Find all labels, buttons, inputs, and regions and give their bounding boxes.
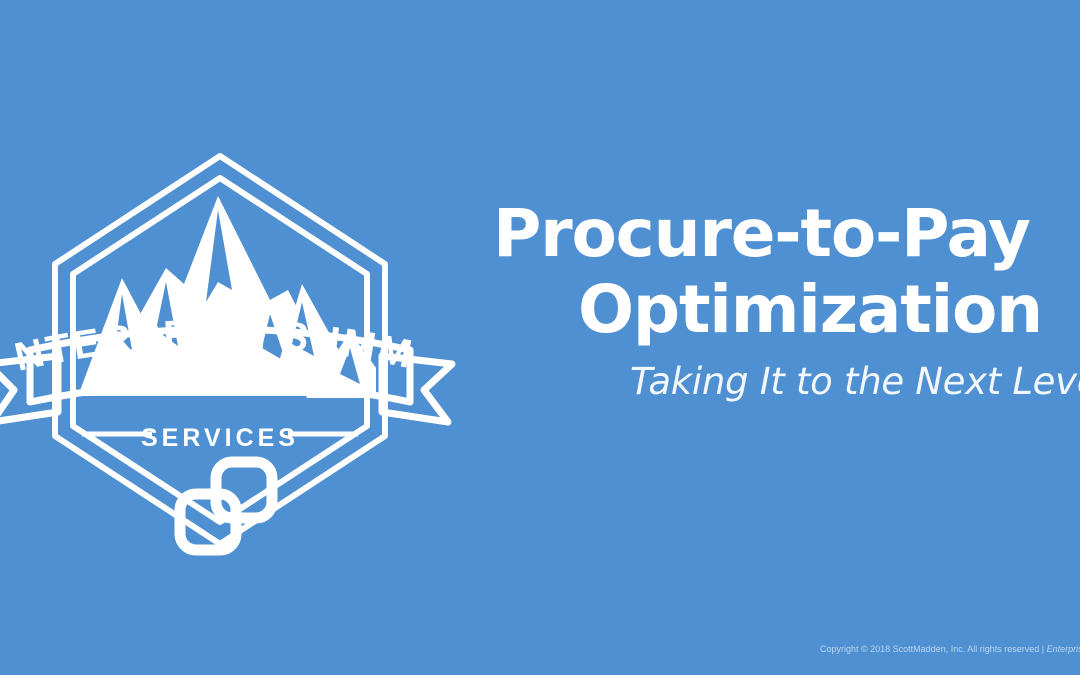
slide-title-line-1: Procure-to-Pay — [493, 196, 1080, 272]
slide-title-line-2: Optimization — [578, 272, 1080, 348]
footer-publication-name: Enterprise Summit Services — [1047, 644, 1080, 654]
footer-copyright-text: Copyright © 2018 ScottMadden, Inc. All r… — [820, 644, 1047, 654]
badge-graphic: ENTERPRISE SUMMIT SERVICES — [0, 150, 450, 550]
mountain-range-icon — [78, 196, 398, 398]
enterprise-summit-services-logo: ENTERPRISE SUMMIT SERVICES — [0, 150, 450, 550]
slide-subtitle: Taking It to the Next Level — [630, 360, 1080, 404]
badge-subbanner-text: SERVICES — [141, 424, 299, 452]
footer-copyright: Copyright © 2018 ScottMadden, Inc. All r… — [820, 643, 1080, 655]
title-block: Procure-to-Pay Optimization Taking It to… — [493, 196, 1080, 404]
title-slide: ENTERPRISE SUMMIT SERVICES Procure-to-Pa… — [0, 0, 1080, 675]
